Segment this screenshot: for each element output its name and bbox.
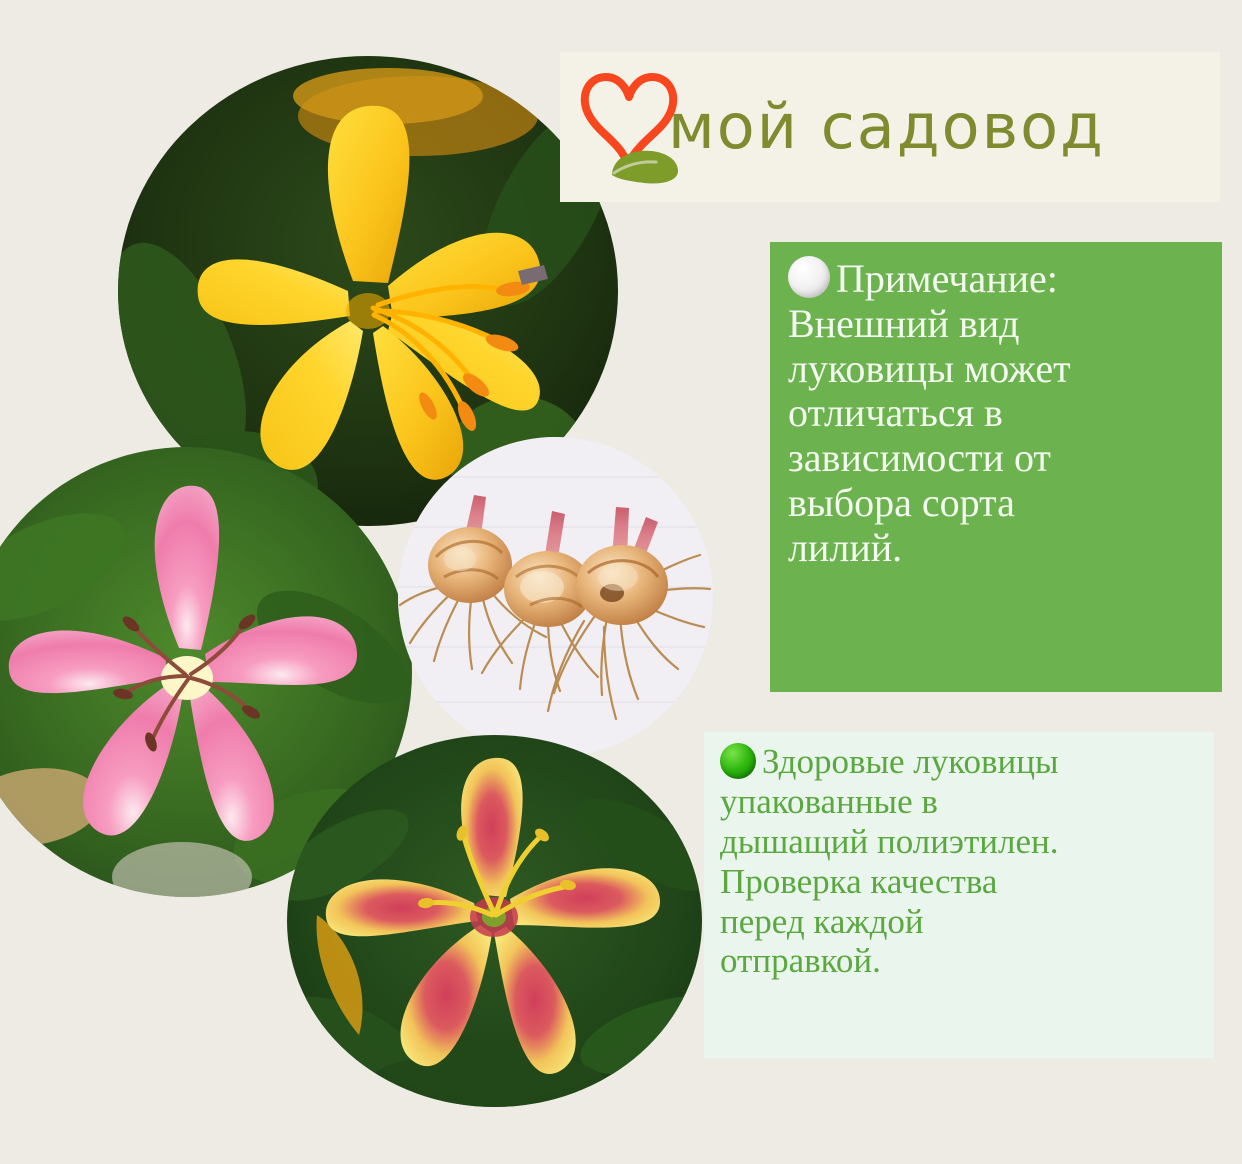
note-line-1: Внешний вид xyxy=(788,301,1020,346)
photo-bulbs xyxy=(398,437,713,757)
white-circle-bullet-icon xyxy=(788,256,830,298)
quality-line-2: дышащий полиэтилен. xyxy=(720,822,1058,861)
note-line-5: выбора сорта xyxy=(788,480,1015,525)
quality-line-4: перед каждой xyxy=(720,902,924,941)
quality-block: Здоровые луковицы упакованные в дышащий … xyxy=(704,732,1214,1058)
quality-text-container: Здоровые луковицы упакованные в дышащий … xyxy=(720,742,1198,981)
note-block: Примечание: Внешний вид луковицы может о… xyxy=(770,242,1222,692)
note-line-3: отличаться в xyxy=(788,390,1003,435)
promo-banner: мой садовод Примечание: Внешний вид луко… xyxy=(0,0,1242,1164)
note-line-4: зависимости от xyxy=(788,435,1051,480)
note-line-6: лилий. xyxy=(788,525,902,570)
quality-line-1: упакованные в xyxy=(720,782,938,821)
note-line-0: Примечание: xyxy=(836,256,1058,301)
quality-line-5: отправкой. xyxy=(720,941,881,980)
photo-red-lily xyxy=(287,735,702,1107)
quality-line-3: Проверка качества xyxy=(720,862,997,901)
logo-mark xyxy=(574,67,684,187)
green-circle-bullet-icon xyxy=(720,743,756,779)
quality-line-0: Здоровые луковицы xyxy=(762,742,1059,781)
note-text-container: Примечание: Внешний вид луковицы может о… xyxy=(788,256,1204,571)
logo-wordmark: мой садовод xyxy=(668,96,1105,158)
note-line-2: луковицы может xyxy=(788,346,1071,391)
brand-logo[interactable]: мой садовод xyxy=(560,52,1220,202)
